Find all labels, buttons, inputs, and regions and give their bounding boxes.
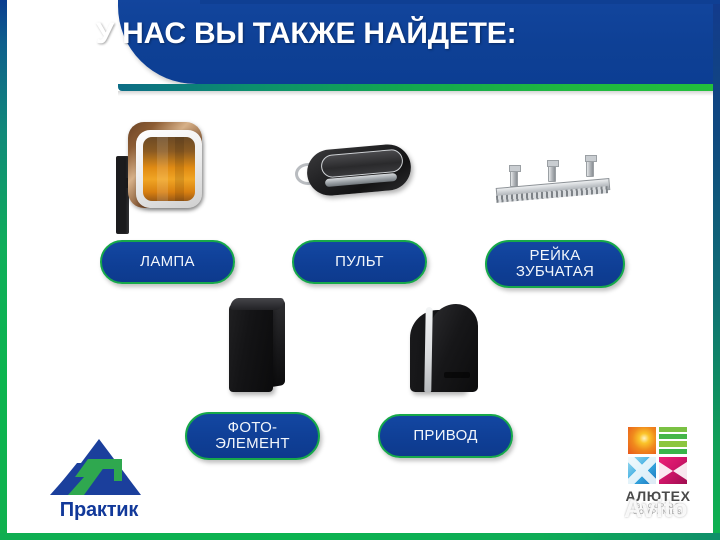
praktik-logo: Практик: [44, 437, 154, 529]
rack-bolt: [510, 167, 518, 187]
product-label-rack[interactable]: РЕЙКА ЗУБЧАТАЯ: [485, 240, 625, 288]
product-label-drive[interactable]: ПРИВОД: [378, 414, 513, 458]
praktik-triangle-mark: [44, 437, 154, 499]
product-image-remote: [293, 135, 423, 225]
product-image-drive: [400, 298, 510, 403]
photocell-top: [229, 298, 286, 310]
alutech-square-blue: [628, 457, 656, 484]
product-label-drive-text: ПРИВОД: [413, 428, 477, 444]
product-image-lamp: [110, 118, 220, 228]
drive-white-stripe: [424, 307, 432, 392]
header-underline-bar: [118, 84, 720, 91]
alutech-logo-text: АЛЮТЕХ: [612, 488, 704, 504]
alutech-square-orange: [628, 427, 656, 454]
alutech-four-squares-mark: [628, 427, 688, 485]
drive-vent: [444, 372, 470, 378]
photocell-body: [229, 304, 273, 392]
alutech-logo: АЛЮТЕХ GROUP OF COMPANIES: [612, 427, 704, 527]
alutech-square-green: [659, 427, 687, 454]
product-image-rack: [490, 155, 620, 215]
lamp-amber-lens: [143, 137, 195, 201]
product-label-photocell[interactable]: ФОТО- ЭЛЕМЕНТ: [185, 412, 320, 460]
photocell-side: [271, 299, 285, 387]
product-label-remote-text: ПУЛЬТ: [335, 254, 384, 270]
alutech-square-red: [659, 457, 687, 484]
product-label-photocell-text: ФОТО- ЭЛЕМЕНТ: [215, 420, 290, 452]
product-label-remote[interactable]: ПУЛЬТ: [292, 240, 427, 284]
frame-bottom-border: [0, 533, 720, 540]
frame-left-border: [0, 0, 7, 540]
page-title: У НАС ВЫ ТАКЖЕ НАЙДЕТЕ:: [26, 17, 586, 51]
product-label-rack-text: РЕЙКА ЗУБЧАТАЯ: [516, 248, 594, 280]
drive-face: [430, 304, 478, 392]
frame-top-border: [200, 0, 720, 4]
praktik-logo-text: Практик: [44, 499, 154, 522]
product-label-lamp[interactable]: ЛАМПА: [100, 240, 235, 284]
rack-bolt: [548, 162, 556, 182]
product-image-photocell: [213, 298, 313, 403]
frame-right-border: [713, 0, 720, 540]
rack-bolt: [586, 157, 594, 177]
slide-canvas: У НАС ВЫ ТАКЖЕ НАЙДЕТЕ: ЛАМПА ПУЛЬТ: [0, 0, 720, 540]
product-label-lamp-text: ЛАМПА: [140, 254, 195, 270]
alutech-logo-subtitle: GROUP OF COMPANIES: [612, 504, 704, 516]
